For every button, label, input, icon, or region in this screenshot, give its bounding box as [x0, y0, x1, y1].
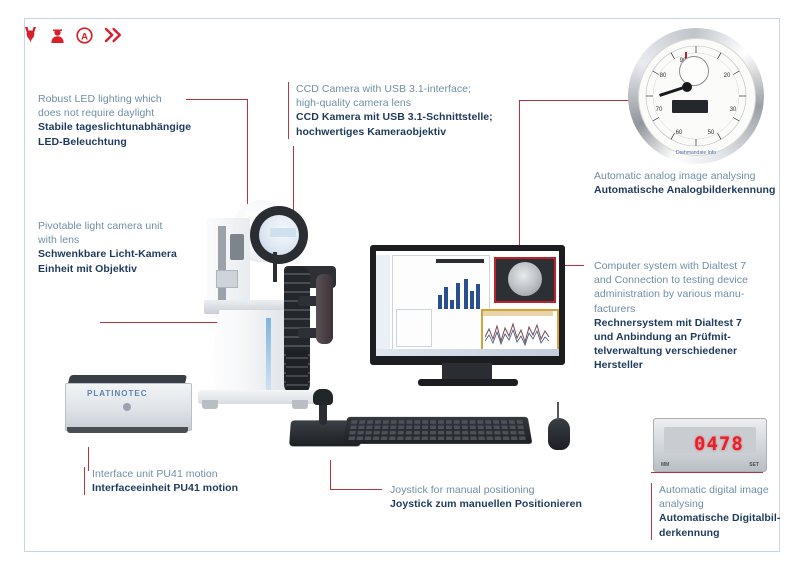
double-chevron-right-icon — [104, 27, 123, 48]
callout-de-line: und Anbindung an Prüfmit- — [594, 330, 794, 344]
callout-en-line: facturers — [594, 302, 794, 316]
callout-en-line: with lens — [38, 233, 218, 247]
stand-rail — [218, 226, 226, 306]
callout-digital-analysing: Automatic digital image analysing Automa… — [651, 483, 799, 540]
svg-text:60: 60 — [676, 130, 683, 136]
callout-interface-unit: Interface unit PU41 motion Interfaceeinh… — [84, 467, 292, 495]
keyboard — [343, 417, 533, 444]
callout-en-line: and Connection to testing device — [594, 273, 794, 287]
computer-monitor — [370, 245, 565, 395]
callout-en-line: Interface unit PU41 motion — [92, 467, 292, 481]
operator-person-icon — [50, 26, 65, 49]
interface-unit-brand: PLATINOTEC — [87, 389, 148, 398]
keyboard-row — [348, 436, 526, 440]
joystick-knob — [313, 389, 333, 405]
callout-led-lighting: Robust LED lighting which does not requi… — [38, 92, 218, 149]
callout-en-line: high-quality camera lens — [296, 96, 511, 110]
callout-de-line: Interfaceeinheit PU41 motion — [92, 481, 292, 495]
software-titlebar — [436, 259, 484, 263]
callout-de-line: Joystick zum manuellen Positionieren — [390, 497, 620, 511]
stand-foot-left — [202, 400, 218, 409]
chart-window-titlebar — [483, 311, 553, 316]
icon-bar: A — [22, 26, 123, 49]
dark-handle — [316, 274, 333, 344]
callout-en-line: Automatic analog image analysing — [594, 169, 794, 183]
interface-unit-knob — [123, 403, 131, 411]
callout-de-line: CCD Kamera mit USB 3.1-Schnittstelle; — [296, 110, 511, 124]
callout-de-line: Schwenkbare Licht-Kamera — [38, 247, 218, 261]
camera-preview-dial — [508, 262, 542, 296]
callout-de-line: Automatische Analogbilderkennung — [594, 183, 794, 197]
camera-preview-window — [494, 257, 556, 303]
gauge-sub-dial — [679, 56, 709, 86]
svg-text:50: 50 — [708, 130, 715, 136]
callout-de-line: Stabile tageslichtunabhängige — [38, 120, 218, 134]
callout-en-line: administration by various manu- — [594, 287, 794, 301]
keyboard-row — [351, 420, 524, 423]
callout-de-line: Hersteller — [594, 358, 794, 372]
software-barchart-b — [464, 275, 480, 309]
callout-en-line: analysing — [659, 497, 799, 511]
keyboard-row — [349, 431, 525, 435]
circled-a-icon: A — [76, 27, 93, 49]
windows-taskbar — [376, 349, 559, 356]
camera-post — [273, 252, 277, 282]
interface-unit-pu41: PLATINOTEC — [65, 375, 190, 437]
analog-dial-gauge: 02030 506070 8090 Drehmandate Info — [628, 28, 764, 168]
digital-indicator-display: 0478 MM SET — [653, 418, 767, 472]
callout-de-line: telverwaltung verschiedener — [594, 344, 794, 358]
callout-de-line: hochwertiges Kameraobjektiv — [296, 125, 511, 139]
plug-connector-icon — [22, 26, 39, 49]
callout-computer-system: Computer system with Dialtest 7 and Conn… — [594, 259, 794, 373]
stand-rail-block — [230, 234, 244, 260]
product-infographic: A PLATINOTEC — [0, 0, 800, 568]
monitor-foot — [418, 379, 518, 386]
callout-en-line: does not require daylight — [38, 106, 218, 120]
svg-text:30: 30 — [730, 107, 737, 113]
keyboard-row — [350, 426, 525, 430]
callout-en-line: Joystick for manual positioning — [390, 483, 620, 497]
monitor-screen — [376, 251, 559, 356]
callout-de-line: Automatische Digitalbil- — [659, 511, 799, 525]
camera-label — [270, 228, 296, 237]
gauge-brand-logo — [672, 100, 708, 113]
digital-readout-value: 0478 — [694, 433, 744, 455]
callout-en-line: Pivotable light camera unit — [38, 219, 218, 233]
callout-en-line: Robust LED lighting which — [38, 92, 218, 106]
callout-en-line: CCD Camera with USB 3.1-interface; — [296, 82, 511, 96]
leader-joystick-h — [330, 489, 382, 490]
svg-text:70: 70 — [656, 107, 663, 113]
leader-gauge-h — [519, 100, 637, 101]
svg-text:80: 80 — [660, 73, 667, 79]
interface-unit-base — [67, 427, 188, 433]
svg-text:A: A — [81, 31, 88, 42]
gauge-caption: Drehmandate Info — [628, 150, 764, 156]
digital-lcd-panel: 0478 — [664, 427, 756, 453]
stand-tab — [216, 270, 238, 288]
leader-digital-h — [651, 472, 763, 473]
ccd-camera-unit — [250, 206, 308, 264]
digital-unit-label: MM — [661, 462, 669, 468]
digital-set-label: SET — [749, 462, 759, 468]
stand-stripe — [266, 318, 271, 396]
svg-text:20: 20 — [724, 73, 731, 79]
mouse-cable — [557, 402, 559, 420]
callout-joystick: Joystick for manual positioning Joystick… — [390, 483, 620, 511]
callout-de-line: LED-Beleuchtung — [38, 135, 218, 149]
software-barchart-a — [438, 279, 460, 309]
callout-de-line: Rechnersystem mit Dialtest 7 — [594, 316, 794, 330]
stand-column — [204, 310, 290, 396]
callout-en-line: Automatic digital image — [659, 483, 799, 497]
gauge-hub — [682, 82, 692, 92]
software-sidebar — [376, 255, 390, 350]
callout-en-line: Computer system with Dialtest 7 — [594, 259, 794, 273]
computer-mouse — [548, 418, 570, 450]
callout-de-line: derkennung — [659, 526, 799, 540]
software-window-sub — [396, 309, 432, 347]
callout-de-line: Einheit mit Objektiv — [38, 262, 218, 276]
callout-analog-analysing: Automatic analog image analysing Automat… — [594, 169, 794, 197]
callout-ccd-camera: CCD Camera with USB 3.1-interface; high-… — [288, 82, 511, 139]
callout-pivotable-camera: Pivotable light camera unit with lens Sc… — [38, 219, 218, 276]
